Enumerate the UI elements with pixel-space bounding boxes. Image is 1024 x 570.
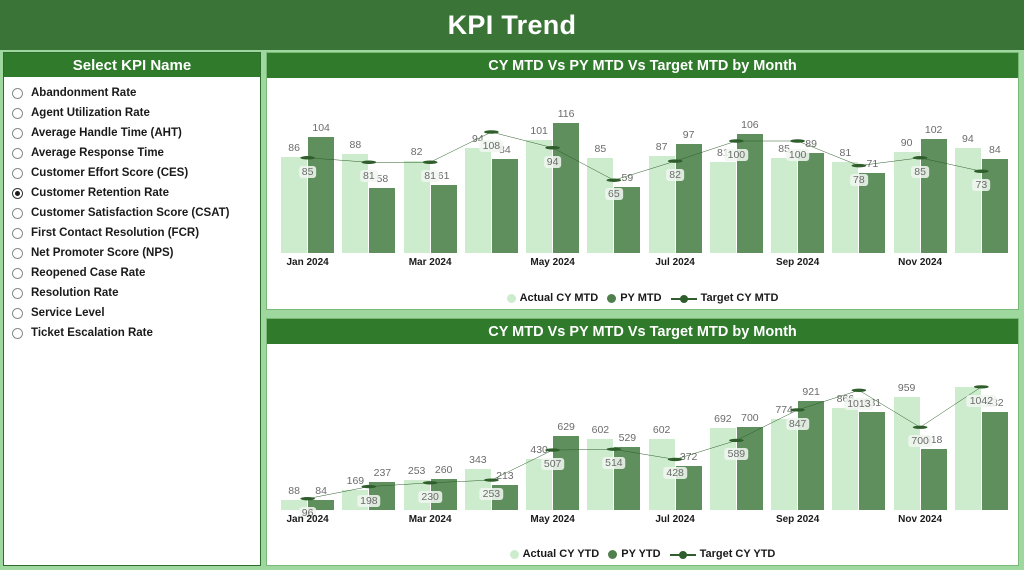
x-axis-tick	[706, 257, 767, 275]
radio-icon[interactable]	[12, 308, 23, 319]
radio-icon[interactable]	[12, 228, 23, 239]
bar-value-label: 84	[989, 144, 1001, 156]
radio-icon[interactable]	[12, 168, 23, 179]
kpi-option-ticket-escalation-rate[interactable]: Ticket Escalation Rate	[12, 323, 260, 343]
bar-value-label: 921	[802, 386, 820, 398]
chart-legend-mtd: Actual CY MTDPY MTDTarget CY MTD	[267, 289, 1018, 307]
bar-group: 8858	[338, 78, 399, 253]
radio-icon[interactable]	[12, 288, 23, 299]
bar-actual[interactable]: 430	[526, 459, 552, 510]
bar-value-label: 88	[288, 485, 300, 497]
bar-value-label: 343	[469, 454, 487, 466]
kpi-selector-title: Select KPI Name	[4, 53, 260, 77]
x-axis-tick: May 2024	[522, 257, 583, 275]
x-axis-tick: Nov 2024	[890, 257, 951, 275]
bar-value-label: 832	[986, 397, 1004, 409]
bar-prior-year[interactable]: 71	[859, 173, 885, 253]
x-axis-tick	[828, 257, 889, 275]
bar-groups: 8610488588261948410111685598797811068589…	[277, 78, 1012, 253]
bar-group: 8884	[277, 344, 338, 510]
x-axis-tick	[583, 257, 644, 275]
legend-swatch-prior-year	[608, 550, 617, 559]
kpi-option-customer-satisfaction-score-csat[interactable]: Customer Satisfaction Score (CSAT)	[12, 203, 260, 223]
kpi-option-resolution-rate[interactable]: Resolution Rate	[12, 283, 260, 303]
bar-prior-year[interactable]: 106	[737, 134, 763, 253]
bar-value-label: 169	[347, 475, 365, 487]
bar-prior-year[interactable]: 84	[308, 500, 334, 510]
bar-value-label: 102	[925, 124, 943, 136]
bar-actual[interactable]: 866	[832, 408, 858, 510]
bar-prior-year[interactable]: 116	[553, 123, 579, 253]
bar-value-label: 253	[408, 465, 426, 477]
bar-prior-year[interactable]: 237	[369, 482, 395, 510]
bar-value-label: 86	[288, 142, 300, 154]
bar-prior-year[interactable]: 700	[737, 427, 763, 510]
bar-actual[interactable]	[955, 387, 981, 510]
radio-icon[interactable]	[12, 108, 23, 119]
bar-value-label: 104	[312, 122, 330, 134]
bar-actual[interactable]: 81	[710, 162, 736, 253]
bar-prior-year[interactable]: 84	[492, 159, 518, 253]
bar-value-label: 94	[472, 133, 484, 145]
bar-value-label: 774	[775, 404, 793, 416]
bar-actual[interactable]: 959	[894, 397, 920, 510]
bar-group: 8797	[645, 78, 706, 253]
radio-icon[interactable]	[12, 128, 23, 139]
kpi-option-label: Customer Satisfaction Score (CSAT)	[31, 207, 230, 219]
kpi-option-reopened-case-rate[interactable]: Reopened Case Rate	[12, 263, 260, 283]
bar-prior-year[interactable]: 102	[921, 139, 947, 253]
bar-prior-year[interactable]: 629	[553, 436, 579, 510]
bar-actual[interactable]: 343	[465, 469, 491, 510]
bar-value-label: 94	[962, 133, 974, 145]
bar-prior-year[interactable]: 831	[859, 412, 885, 510]
bar-value-label: 116	[558, 108, 575, 120]
bar-prior-year[interactable]: 84	[982, 159, 1008, 253]
legend-label: Actual CY MTD	[520, 292, 599, 304]
bar-prior-year[interactable]: 921	[798, 401, 824, 510]
kpi-option-label: Reopened Case Rate	[31, 267, 145, 279]
bar-group: 959518	[890, 344, 951, 510]
bar-value-label: 81	[840, 147, 852, 159]
radio-icon[interactable]	[12, 328, 23, 339]
bar-prior-year[interactable]: 58	[369, 188, 395, 253]
bar-value-label: 84	[499, 144, 511, 156]
bar-value-label: 237	[374, 467, 392, 479]
x-axis-tick: Mar 2024	[400, 514, 461, 532]
bar-group: 832	[951, 344, 1012, 510]
radio-icon[interactable]	[12, 208, 23, 219]
bar-group: 8559	[583, 78, 644, 253]
legend-label: Target CY YTD	[700, 548, 776, 560]
kpi-option-first-contact-resolution-fcr[interactable]: First Contact Resolution (FCR)	[12, 223, 260, 243]
bar-value-label: 101	[530, 125, 548, 137]
bar-value-label: 529	[619, 432, 637, 444]
bar-prior-year[interactable]: 372	[676, 466, 702, 510]
kpi-option-label: Average Response Time	[31, 147, 164, 159]
x-axis-tick	[461, 257, 522, 275]
kpi-option-label: Agent Utilization Rate	[31, 107, 150, 119]
bar-actual[interactable]: 90	[894, 152, 920, 253]
x-axis-tick: Sep 2024	[767, 514, 828, 532]
bar-group: 866831	[828, 344, 889, 510]
bar-actual[interactable]: 85	[771, 158, 797, 253]
bar-value-label: 602	[592, 424, 610, 436]
chart-plot-ytd: 8884169237253260343213430629602529602372…	[267, 344, 1018, 540]
x-axis-tick: Jul 2024	[645, 257, 706, 275]
bar-group: 774921	[767, 344, 828, 510]
bar-value-label: 700	[741, 412, 759, 424]
bar-prior-year[interactable]: 213	[492, 485, 518, 510]
bar-value-label: 602	[653, 424, 671, 436]
legend-label: PY YTD	[621, 548, 660, 560]
x-axis-labels: Jan 2024Mar 2024May 2024Jul 2024Sep 2024…	[277, 257, 1012, 275]
bar-group: 8261	[400, 78, 461, 253]
bar-actual[interactable]: 602	[649, 439, 675, 510]
x-axis-tick	[706, 514, 767, 532]
bar-value-label: 84	[315, 485, 327, 497]
bar-prior-year[interactable]: 529	[614, 447, 640, 510]
bar-actual[interactable]: 88	[342, 154, 368, 253]
bar-actual[interactable]: 85	[587, 158, 613, 253]
kpi-option-service-level[interactable]: Service Level	[12, 303, 260, 323]
legend-label: Target CY MTD	[701, 292, 779, 304]
bar-actual[interactable]: 101	[526, 140, 552, 253]
bar-value-label: 97	[683, 129, 695, 141]
legend-swatch-target	[671, 294, 697, 303]
bar-value-label: 90	[901, 137, 913, 149]
kpi-option-agent-utilization-rate[interactable]: Agent Utilization Rate	[12, 103, 260, 123]
bar-value-label: 213	[496, 470, 514, 482]
bar-prior-year[interactable]: 97	[676, 144, 702, 253]
legend-item[interactable]: Target CY YTD	[670, 548, 776, 560]
page-title: KPI Trend	[448, 10, 577, 41]
legend-item[interactable]: PY YTD	[608, 548, 660, 560]
legend-item[interactable]: Actual CY YTD	[510, 548, 600, 560]
legend-label: Actual CY YTD	[523, 548, 600, 560]
chart-panel-mtd: CY MTD Vs PY MTD Vs Target MTD by Month …	[266, 52, 1019, 310]
bar-group: 253260	[400, 344, 461, 510]
bar-actual[interactable]: 169	[342, 490, 368, 510]
chart-panel-ytd: CY MTD Vs PY MTD Vs Target MTD by Month …	[266, 318, 1019, 566]
bar-value-label: 85	[595, 143, 607, 155]
bar-actual[interactable]: 253	[404, 480, 430, 510]
bar-actual[interactable]: 88	[281, 500, 307, 510]
bar-group: 86104	[277, 78, 338, 253]
bar-group: 602529	[583, 344, 644, 510]
bar-group: 169237	[338, 344, 399, 510]
bar-value-label: 372	[680, 451, 698, 463]
bar-actual[interactable]: 82	[404, 161, 430, 253]
dashboard-root: KPI Trend Select KPI Name Abandonment Ra…	[0, 0, 1024, 570]
bar-value-label: 430	[530, 444, 548, 456]
legend-swatch-actual	[507, 294, 516, 303]
x-axis-tick: Jan 2024	[277, 514, 338, 532]
kpi-option-label: First Contact Resolution (FCR)	[31, 227, 199, 239]
bar-value-label: 88	[350, 139, 362, 151]
x-axis-tick: May 2024	[522, 514, 583, 532]
kpi-selector-panel: Select KPI Name Abandonment RateAgent Ut…	[3, 52, 261, 566]
radio-selected-icon[interactable]	[12, 188, 23, 199]
bar-value-label: 692	[714, 413, 732, 425]
bar-value-label: 58	[377, 173, 389, 185]
bar-value-label: 71	[867, 158, 879, 170]
x-axis-tick: Jan 2024	[277, 257, 338, 275]
bar-value-label: 106	[741, 119, 759, 131]
chart-plot-mtd: 8610488588261948410111685598797811068589…	[267, 78, 1018, 283]
x-axis-tick	[338, 257, 399, 275]
bar-value-label: 260	[435, 464, 453, 476]
bar-actual[interactable]: 87	[649, 156, 675, 253]
kpi-option-label: Average Handle Time (AHT)	[31, 127, 182, 139]
x-axis-labels: Jan 2024Mar 2024May 2024Jul 2024Sep 2024…	[277, 514, 1012, 532]
bar-prior-year[interactable]: 59	[614, 187, 640, 253]
bar-group: 9484	[461, 78, 522, 253]
kpi-option-average-handle-time-aht[interactable]: Average Handle Time (AHT)	[12, 123, 260, 143]
kpi-option-label: Abandonment Rate	[31, 87, 136, 99]
x-axis-tick: Mar 2024	[400, 257, 461, 275]
bar-prior-year[interactable]: 89	[798, 153, 824, 253]
bar-group: 692700	[706, 344, 767, 510]
x-axis-tick	[828, 514, 889, 532]
bar-value-label: 85	[778, 143, 790, 155]
bar-value-label: 89	[805, 138, 817, 150]
bar-actual[interactable]: 692	[710, 428, 736, 510]
kpi-option-label: Customer Retention Rate	[31, 187, 169, 199]
kpi-option-label: Net Promoter Score (NPS)	[31, 247, 174, 259]
kpi-radio-list[interactable]: Abandonment RateAgent Utilization RateAv…	[4, 77, 260, 343]
bar-group: 90102	[890, 78, 951, 253]
x-axis-tick	[951, 514, 1012, 532]
app-banner: KPI Trend	[0, 0, 1024, 50]
bar-value-label: 959	[898, 382, 916, 394]
kpi-option-abandonment-rate[interactable]: Abandonment Rate	[12, 83, 260, 103]
kpi-option-label: Customer Effort Score (CES)	[31, 167, 188, 179]
legend-item[interactable]: Target CY MTD	[671, 292, 779, 304]
bar-prior-year[interactable]: 518	[921, 449, 947, 510]
x-axis-tick	[338, 514, 399, 532]
bar-group: 430629	[522, 344, 583, 510]
bar-value-label: 866	[837, 393, 855, 405]
kpi-option-customer-effort-score-ces[interactable]: Customer Effort Score (CES)	[12, 163, 260, 183]
x-axis-tick	[951, 257, 1012, 275]
x-axis-tick: Jul 2024	[645, 514, 706, 532]
bar-group: 8171	[828, 78, 889, 253]
bar-actual[interactable]: 774	[771, 419, 797, 510]
chart-legend-ytd: Actual CY YTDPY YTDTarget CY YTD	[267, 545, 1018, 563]
bar-prior-year[interactable]: 832	[982, 412, 1008, 510]
bar-prior-year[interactable]: 104	[308, 137, 334, 253]
bar-actual[interactable]: 602	[587, 439, 613, 510]
radio-icon[interactable]	[12, 268, 23, 279]
x-axis-tick	[461, 514, 522, 532]
kpi-option-label: Service Level	[31, 307, 105, 319]
radio-icon[interactable]	[12, 248, 23, 259]
bar-actual[interactable]: 86	[281, 157, 307, 253]
bar-value-label: 61	[438, 170, 450, 182]
x-axis-tick: Nov 2024	[890, 514, 951, 532]
legend-swatch-actual	[510, 550, 519, 559]
bar-group: 9484	[951, 78, 1012, 253]
radio-icon[interactable]	[12, 148, 23, 159]
chart-title-mtd: CY MTD Vs PY MTD Vs Target MTD by Month	[267, 53, 1018, 78]
bar-group: 81106	[706, 78, 767, 253]
bar-value-label: 831	[864, 397, 882, 409]
bar-value-label: 81	[717, 147, 729, 159]
kpi-option-average-response-time[interactable]: Average Response Time	[12, 143, 260, 163]
legend-swatch-prior-year	[607, 294, 616, 303]
bar-actual[interactable]: 94	[955, 148, 981, 253]
bar-prior-year[interactable]: 61	[431, 185, 457, 253]
bar-value-label: 629	[557, 421, 575, 433]
bar-actual[interactable]: 94	[465, 148, 491, 253]
kpi-option-label: Resolution Rate	[31, 287, 119, 299]
bar-group: 343213	[461, 344, 522, 510]
bar-group: 8589	[767, 78, 828, 253]
bar-group: 101116	[522, 78, 583, 253]
legend-label: PY MTD	[620, 292, 661, 304]
kpi-option-label: Ticket Escalation Rate	[31, 327, 153, 339]
bar-groups: 8884169237253260343213430629602529602372…	[277, 344, 1012, 510]
x-axis-tick: Sep 2024	[767, 257, 828, 275]
legend-item[interactable]: Actual CY MTD	[507, 292, 599, 304]
legend-swatch-target	[670, 550, 696, 559]
kpi-option-customer-retention-rate[interactable]: Customer Retention Rate	[12, 183, 260, 203]
bar-actual[interactable]: 81	[832, 162, 858, 253]
bar-value-label: 59	[622, 172, 634, 184]
kpi-option-net-promoter-score-nps[interactable]: Net Promoter Score (NPS)	[12, 243, 260, 263]
chart-title-ytd: CY MTD Vs PY MTD Vs Target MTD by Month	[267, 319, 1018, 344]
bar-value-label: 518	[925, 434, 943, 446]
radio-icon[interactable]	[12, 88, 23, 99]
bar-group: 602372	[645, 344, 706, 510]
bar-value-label: 82	[411, 146, 423, 158]
legend-item[interactable]: PY MTD	[607, 292, 661, 304]
x-axis-tick	[583, 514, 644, 532]
bar-prior-year[interactable]: 260	[431, 479, 457, 510]
bar-value-label: 87	[656, 141, 668, 153]
